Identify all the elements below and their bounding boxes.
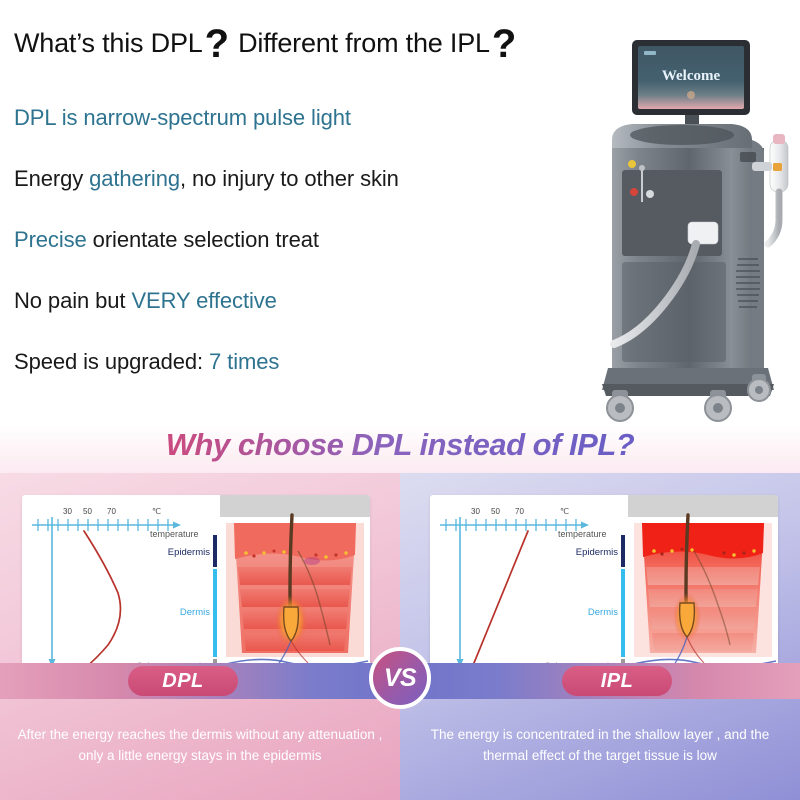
title-part-1: What’s this DPL xyxy=(14,28,203,58)
bullet-text-2-b: , no injury to other skin xyxy=(180,166,399,191)
tick-label-70: 70 xyxy=(515,507,524,516)
bullet-text-3-b: orientate selection treat xyxy=(87,227,319,252)
dpl-pill-label: DPL xyxy=(128,666,238,696)
dpl-temperature-depth-graph: 30 50 70 ℃ temperature depth xyxy=(22,495,222,685)
bullet-text-2-a: Energy xyxy=(14,166,89,191)
dpl-caption: After the energy reaches the dermis with… xyxy=(0,724,400,766)
tick-label-70: 70 xyxy=(107,507,116,516)
comparison-section: 30 50 70 ℃ temperature depth Epidermis D… xyxy=(0,473,800,800)
tick-label-50: 50 xyxy=(491,507,500,516)
label-band: DPL IPL VS xyxy=(0,663,800,699)
skin-illustration-ipl xyxy=(628,495,778,685)
bullet-text-2-highlight: gathering xyxy=(89,166,180,191)
ipl-temperature-depth-graph: 30 50 70 ℃ temperature depth xyxy=(430,495,630,685)
vent-grille xyxy=(736,258,760,308)
dpl-temperature-curve xyxy=(84,531,120,667)
tick-label-30: 30 xyxy=(63,507,72,516)
tick-label-30: 30 xyxy=(471,507,480,516)
machine-illustration: Welcome xyxy=(592,22,800,422)
question-mark-icon-1: ? xyxy=(203,22,231,66)
question-mark-icon-2: ? xyxy=(490,22,518,66)
bullet-text-3-highlight: Precise xyxy=(14,227,87,252)
ipl-pill-label: IPL xyxy=(562,666,672,696)
machine-photo: Welcome xyxy=(592,22,800,422)
bullet-text-5-highlight: 7 times xyxy=(209,349,279,374)
ipl-caption: The energy is concentrated in the shallo… xyxy=(400,724,800,766)
poster-root: What’s this DPL? Different from the IPL?… xyxy=(0,0,800,800)
ipl-temperature-curve xyxy=(474,531,528,663)
unit-label-celsius: ℃ xyxy=(152,507,161,516)
machine-base xyxy=(602,368,774,421)
machine-screen-text: Welcome xyxy=(662,68,721,84)
unit-label-celsius: ℃ xyxy=(560,507,569,516)
indicator-light-white xyxy=(646,190,654,198)
why-choose-title: Why choose DPL instead of IPL? xyxy=(0,427,800,463)
ipl-skin-cross-section xyxy=(628,495,778,685)
vs-badge: VS xyxy=(369,647,431,709)
monitor: Welcome xyxy=(632,40,750,129)
page-title: What’s this DPL? Different from the IPL? xyxy=(14,28,574,59)
why-choose-banner: Why choose DPL instead of IPL? xyxy=(0,425,800,473)
list-item: Energy gathering, no injury to other ski… xyxy=(14,166,574,192)
dpl-diagram-card: 30 50 70 ℃ temperature depth Epidermis D… xyxy=(22,495,370,685)
bullet-text-4-a: No pain but xyxy=(14,288,131,313)
skin-illustration-dpl xyxy=(220,495,370,685)
bullet-text-5-a: Speed is upgraded: xyxy=(14,349,209,374)
axis-label-temperature: temperature xyxy=(150,529,199,539)
feature-list: DPL is narrow-spectrum pulse light Energ… xyxy=(14,105,574,410)
bullet-text-1: DPL is narrow-spectrum pulse light xyxy=(14,105,351,130)
ipl-diagram-card: 30 50 70 ℃ temperature depth Epidermis D… xyxy=(430,495,778,685)
title-part-2: Different from the IPL xyxy=(238,28,490,58)
dpl-skin-cross-section xyxy=(220,495,370,685)
axis-label-temperature: temperature xyxy=(558,529,607,539)
bullet-text-4-highlight: VERY effective xyxy=(131,288,276,313)
gray-header-bar xyxy=(628,495,778,517)
indicator-light-red xyxy=(630,188,638,196)
list-item: No pain but VERY effective xyxy=(14,288,574,314)
list-item: DPL is narrow-spectrum pulse light xyxy=(14,105,574,131)
top-info-section: What’s this DPL? Different from the IPL?… xyxy=(0,0,800,425)
list-item: Speed is upgraded: 7 times xyxy=(14,349,574,375)
list-item: Precise orientate selection treat xyxy=(14,227,574,253)
tick-label-50: 50 xyxy=(83,507,92,516)
gray-header-bar xyxy=(220,495,370,517)
indicator-light-yellow xyxy=(628,160,636,168)
